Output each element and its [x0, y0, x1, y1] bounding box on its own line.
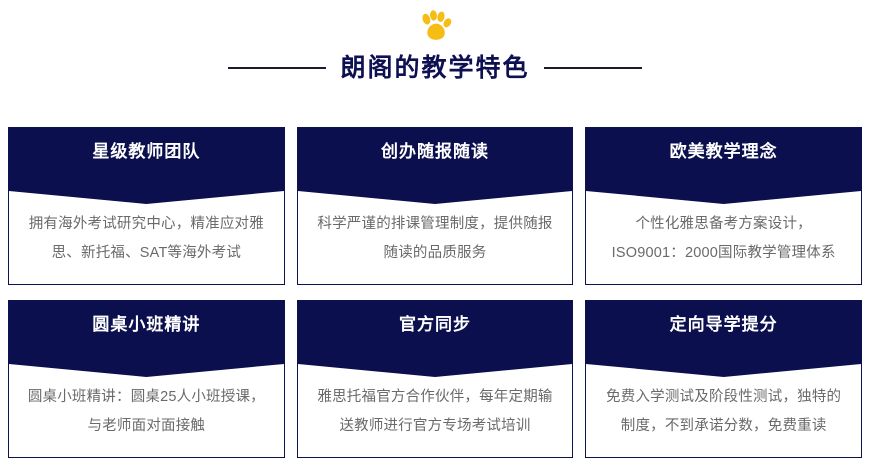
- page-title: 朗阁的教学特色: [340, 56, 529, 81]
- card-description: 圆桌小班精讲：圆桌25人小班授课，与老师面对面接触: [23, 383, 270, 441]
- feature-card-2[interactable]: 创办随报随读 科学严谨的排课管理制度，提供随报随读的品质服务: [297, 127, 574, 285]
- card-header: 创办随报随读: [298, 128, 573, 188]
- card-description: 免费入学测试及阶段性测试，独特的制度，不到承诺分数，免费重读: [600, 383, 847, 441]
- title-rule-right: [544, 67, 642, 69]
- card-title: 星级教师团队: [92, 143, 200, 160]
- card-title: 圆桌小班精讲: [92, 316, 200, 333]
- feature-card-4[interactable]: 圆桌小班精讲 圆桌小班精讲：圆桌25人小班授课，与老师面对面接触: [8, 300, 285, 458]
- card-header: 官方同步: [298, 301, 573, 361]
- card-title: 官方同步: [399, 316, 471, 333]
- card-description: 拥有海外考试研究中心，精准应对雅思、新托福、SAT等海外考试: [23, 210, 270, 268]
- card-header: 星级教师团队: [9, 128, 284, 188]
- title-rule-left: [228, 67, 326, 69]
- feature-card-5[interactable]: 官方同步 雅思托福官方合作伙伴，每年定期输送教师进行官方专场考试培训: [297, 300, 574, 458]
- card-header: 定向导学提分: [586, 301, 861, 361]
- card-title: 创办随报随读: [381, 143, 489, 160]
- feature-card-3[interactable]: 欧美教学理念 个性化雅思备考方案设计，ISO9001：2000国际教学管理体系: [585, 127, 862, 285]
- card-title: 欧美教学理念: [670, 143, 778, 160]
- paw-print-icon: [417, 10, 453, 44]
- card-description: 雅思托福官方合作伙伴，每年定期输送教师进行官方专场考试培训: [312, 383, 559, 441]
- feature-section-page: 朗阁的教学特色 星级教师团队 拥有海外考试研究中心，精准应对雅思、新托福、SAT…: [0, 0, 870, 461]
- section-header: 朗阁的教学特色: [0, 0, 870, 112]
- feature-card-grid: 星级教师团队 拥有海外考试研究中心，精准应对雅思、新托福、SAT等海外考试 创办…: [8, 127, 862, 458]
- feature-card-1[interactable]: 星级教师团队 拥有海外考试研究中心，精准应对雅思、新托福、SAT等海外考试: [8, 127, 285, 285]
- paw-icon-wrap: [0, 8, 870, 46]
- card-description: 科学严谨的排课管理制度，提供随报随读的品质服务: [312, 210, 559, 268]
- card-description: 个性化雅思备考方案设计，ISO9001：2000国际教学管理体系: [600, 210, 847, 268]
- card-header: 圆桌小班精讲: [9, 301, 284, 361]
- card-header: 欧美教学理念: [586, 128, 861, 188]
- card-title: 定向导学提分: [670, 316, 778, 333]
- feature-card-6[interactable]: 定向导学提分 免费入学测试及阶段性测试，独特的制度，不到承诺分数，免费重读: [585, 300, 862, 458]
- section-title-row: 朗阁的教学特色: [0, 48, 870, 88]
